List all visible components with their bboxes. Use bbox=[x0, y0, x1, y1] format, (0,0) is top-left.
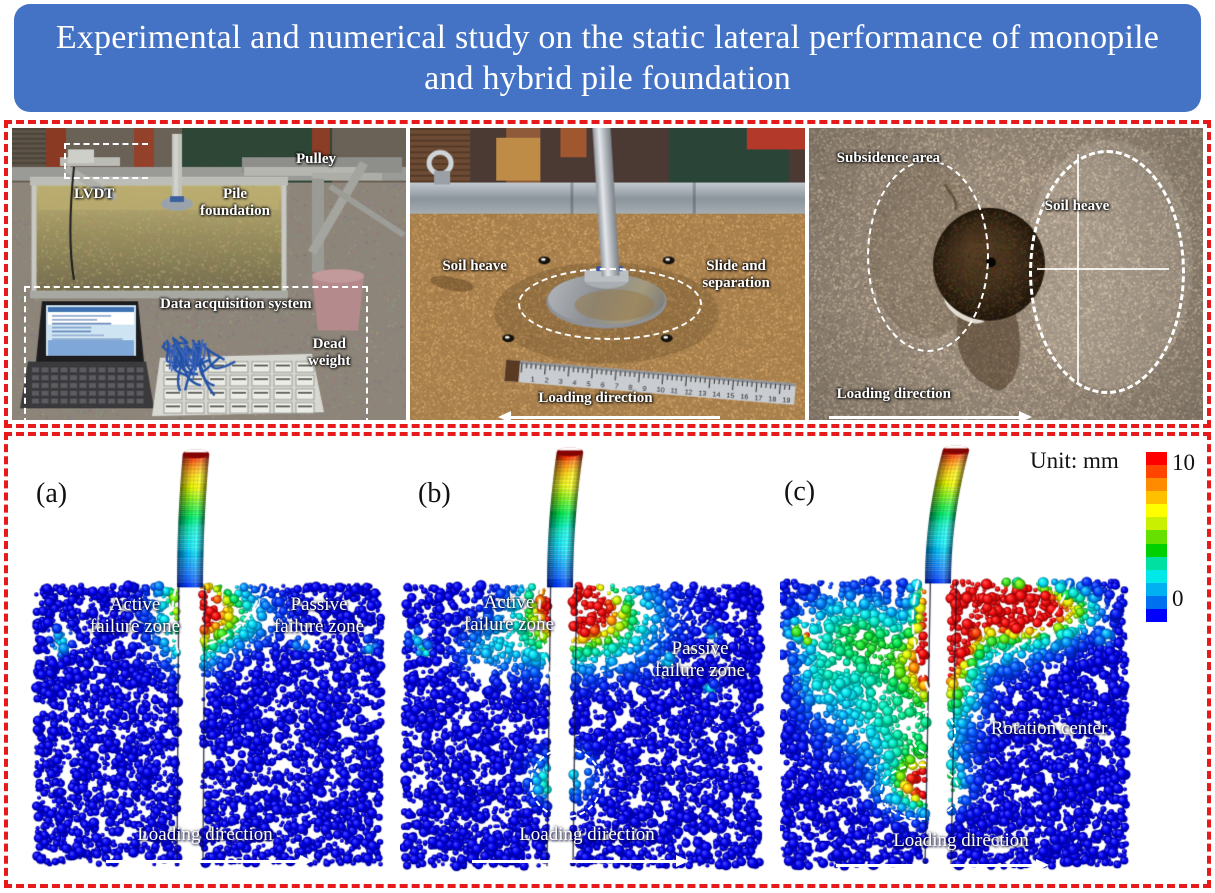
colorbar-max-tick: 10 bbox=[1172, 450, 1195, 476]
page-title: Experimental and numerical study on the … bbox=[44, 17, 1171, 100]
panel-letter-b: (b) bbox=[418, 480, 451, 508]
photo-post-test-soil-surface: Subsidence area Soil heave Loading direc… bbox=[809, 128, 1203, 420]
dem-monopile-small-load-image bbox=[18, 442, 396, 880]
pile-toe-circle bbox=[880, 764, 960, 820]
dem-simulation-section: (a) Active failure zone Passive failure … bbox=[4, 432, 1211, 888]
loading-direction-arrow-head bbox=[1019, 411, 1032, 420]
loading-direction-arrow-line bbox=[836, 864, 1038, 867]
dem-panel-b: (b) Active failure zone Passive failure … bbox=[400, 442, 778, 880]
lvdt-highlight-box bbox=[64, 143, 148, 179]
data-acquisition-highlight-box bbox=[24, 286, 368, 420]
loading-direction-arrow-line bbox=[472, 860, 678, 863]
loading-direction-arrow-line bbox=[508, 416, 720, 419]
loading-direction-arrow-line bbox=[106, 860, 302, 863]
loading-direction-arrow-line bbox=[829, 416, 1021, 419]
loading-direction-arrow-head bbox=[1036, 859, 1049, 871]
failure-zone-circle bbox=[518, 268, 702, 340]
dem-panel-c: (c) Rotation center Loading direction bbox=[780, 442, 1152, 880]
soil-heave-circle bbox=[1029, 150, 1185, 394]
colorbar-min-tick: 0 bbox=[1172, 586, 1184, 612]
loading-direction-arrow-head bbox=[676, 855, 689, 867]
bottom-disturbance-circle bbox=[530, 748, 602, 818]
loading-direction-arrow-head bbox=[498, 411, 511, 420]
photo-soil-surface-closeup: Soil heave Slide and separation Loading … bbox=[410, 128, 804, 420]
loading-direction-arrow-head bbox=[300, 855, 313, 867]
photo-row: Pulley LVDT Pile foundation Data acquisi… bbox=[8, 124, 1207, 424]
photo-model-test-setup: Pulley LVDT Pile foundation Data acquisi… bbox=[12, 128, 406, 420]
subsidence-area-circle bbox=[867, 160, 989, 352]
title-banner: Experimental and numerical study on the … bbox=[14, 4, 1201, 112]
colorbar-unit-label: Unit: mm bbox=[1030, 448, 1119, 474]
dem-monopile-large-load-image bbox=[400, 442, 778, 880]
panel-letter-c: (c) bbox=[784, 478, 815, 506]
soil-heave-horizontal-axis bbox=[1037, 268, 1169, 270]
dem-row: (a) Active failure zone Passive failure … bbox=[8, 436, 1207, 884]
dem-panel-a: (a) Active failure zone Passive failure … bbox=[18, 442, 396, 880]
experimental-photo-section: Pulley LVDT Pile foundation Data acquisi… bbox=[4, 120, 1211, 428]
dem-hybrid-pile-image bbox=[780, 442, 1152, 880]
panel-letter-a: (a) bbox=[36, 480, 67, 508]
displacement-colorbar bbox=[1146, 452, 1167, 622]
rotation-center-circle bbox=[910, 710, 956, 756]
